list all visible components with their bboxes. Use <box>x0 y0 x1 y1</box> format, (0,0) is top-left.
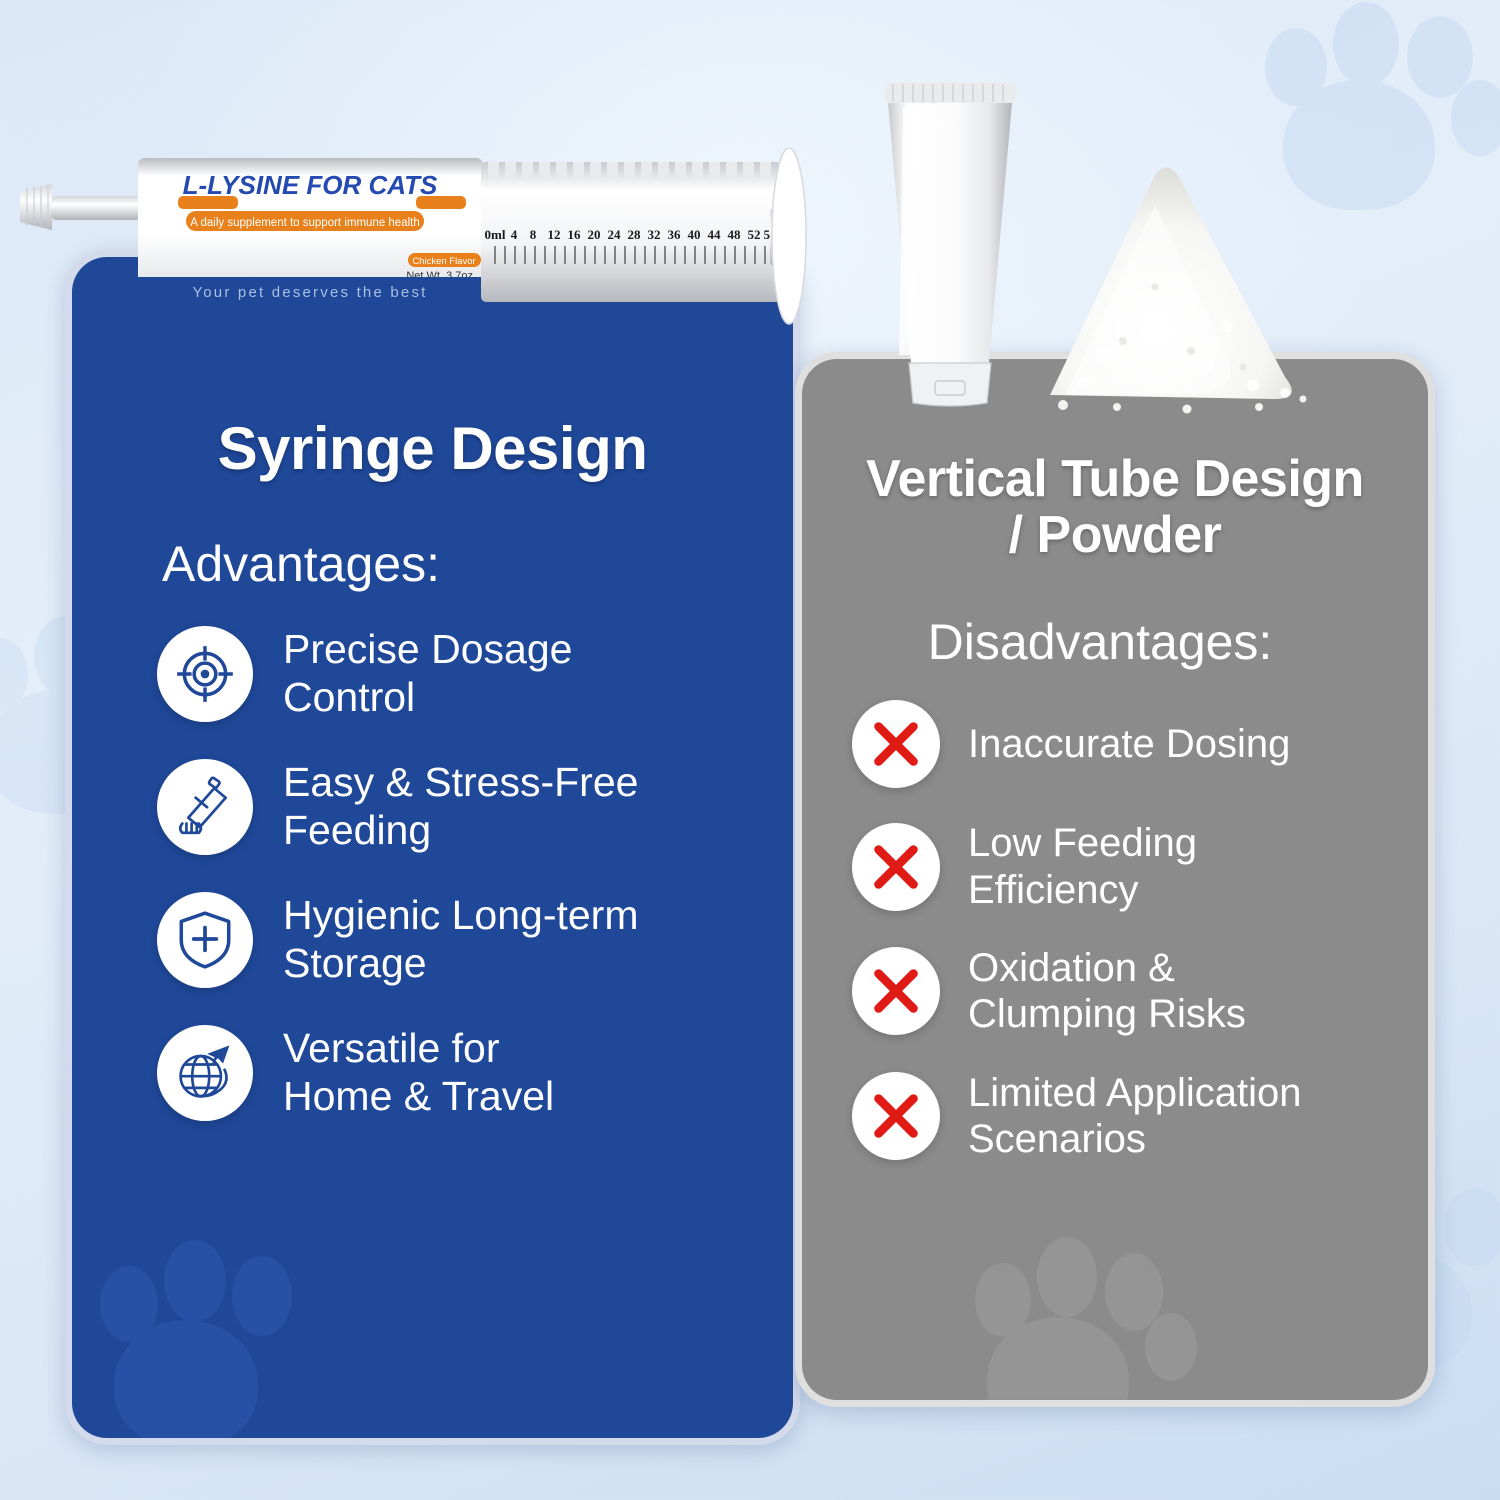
syringe-brand-title: L-LYSINE FOR CATS <box>183 170 438 200</box>
svg-text:52: 52 <box>748 227 761 242</box>
syringe-barrel-label: L-LYSINE FOR CATS A daily supplement to … <box>138 158 483 306</box>
globe-airplane-icon <box>157 1025 253 1121</box>
disadvantage-label: Inaccurate Dosing <box>968 721 1290 767</box>
svg-text:48: 48 <box>728 227 742 242</box>
svg-text:24: 24 <box>608 227 622 242</box>
syringe-nozzle-neck <box>51 196 141 220</box>
svg-text:16: 16 <box>568 227 582 242</box>
syringe-product-image: L-LYSINE FOR CATS A daily supplement to … <box>18 148 818 333</box>
advantage-item-easy-feeding: Easy & Stress-FreeFeeding <box>157 759 793 855</box>
svg-text:8: 8 <box>530 227 537 242</box>
disadvantages-list: Inaccurate Dosing Low FeedingEfficiency <box>852 700 1428 1162</box>
disadvantage-label: Low FeedingEfficiency <box>968 820 1197 913</box>
shield-plus-icon <box>157 892 253 988</box>
syringe-flavor: Chicken Flavor <box>412 256 475 267</box>
disadvantage-item-low-feeding-efficiency: Low FeedingEfficiency <box>852 820 1428 913</box>
svg-text:20: 20 <box>588 227 601 242</box>
powder-tube <box>885 83 1015 406</box>
svg-text:28: 28 <box>628 227 642 242</box>
advantages-subheading: Advantages: <box>162 537 793 592</box>
disadvantage-label: Limited ApplicationScenarios <box>968 1070 1302 1163</box>
red-cross-icon <box>852 947 940 1035</box>
svg-text:4: 4 <box>511 227 518 242</box>
blue-panel-title: Syringe Design <box>72 417 793 482</box>
svg-text:40: 40 <box>688 227 701 242</box>
gray-panel-title: Vertical Tube Design/ Powder <box>802 451 1428 563</box>
syringe-nozzle-cap <box>20 184 52 230</box>
target-crosshair-icon <box>157 626 253 722</box>
powder-pile <box>1050 167 1307 413</box>
svg-text:32: 32 <box>648 227 661 242</box>
advantage-item-hygienic-storage: Hygienic Long-termStorage <box>157 892 793 988</box>
syringe-footer-tagline: Your pet deserves the best <box>192 284 427 301</box>
disadvantage-label: Oxidation &Clumping Risks <box>968 945 1246 1038</box>
advantage-item-precise-dosage: Precise DosageControl <box>157 626 793 722</box>
tube-and-powder-image <box>855 55 1435 425</box>
syringe-design-panel: Syringe Design Advantages: <box>65 250 800 1445</box>
svg-text:36: 36 <box>668 227 682 242</box>
advantage-label: Versatile forHome & Travel <box>283 1025 554 1120</box>
disadvantage-item-oxidation-clumping: Oxidation &Clumping Risks <box>852 945 1428 1038</box>
svg-text:44: 44 <box>708 227 722 242</box>
advantage-label: Precise DosageControl <box>283 626 572 721</box>
red-cross-icon <box>852 700 940 788</box>
disadvantage-item-limited-application: Limited ApplicationScenarios <box>852 1070 1428 1163</box>
red-cross-icon <box>852 823 940 911</box>
hand-syringe-icon <box>157 759 253 855</box>
advantage-item-versatile-travel: Versatile forHome & Travel <box>157 1025 793 1121</box>
advantages-list: Precise DosageControl <box>157 626 793 1121</box>
advantage-label: Hygienic Long-termStorage <box>283 892 639 987</box>
syringe-tagline: A daily supplement to support immune hea… <box>190 217 420 229</box>
red-cross-icon <box>852 1072 940 1160</box>
syringe-graduated-barrel: 0ml48 121620 242832 364044 485256 60 <box>481 162 791 302</box>
advantage-label: Easy & Stress-FreeFeeding <box>283 759 638 854</box>
disadvantages-subheading: Disadvantages: <box>802 615 1428 670</box>
vertical-tube-powder-panel: Vertical Tube Design/ Powder Disadvantag… <box>795 352 1435 1407</box>
svg-text:0ml: 0ml <box>485 227 506 242</box>
disadvantage-item-inaccurate-dosing: Inaccurate Dosing <box>852 700 1428 788</box>
svg-text:12: 12 <box>548 227 561 242</box>
